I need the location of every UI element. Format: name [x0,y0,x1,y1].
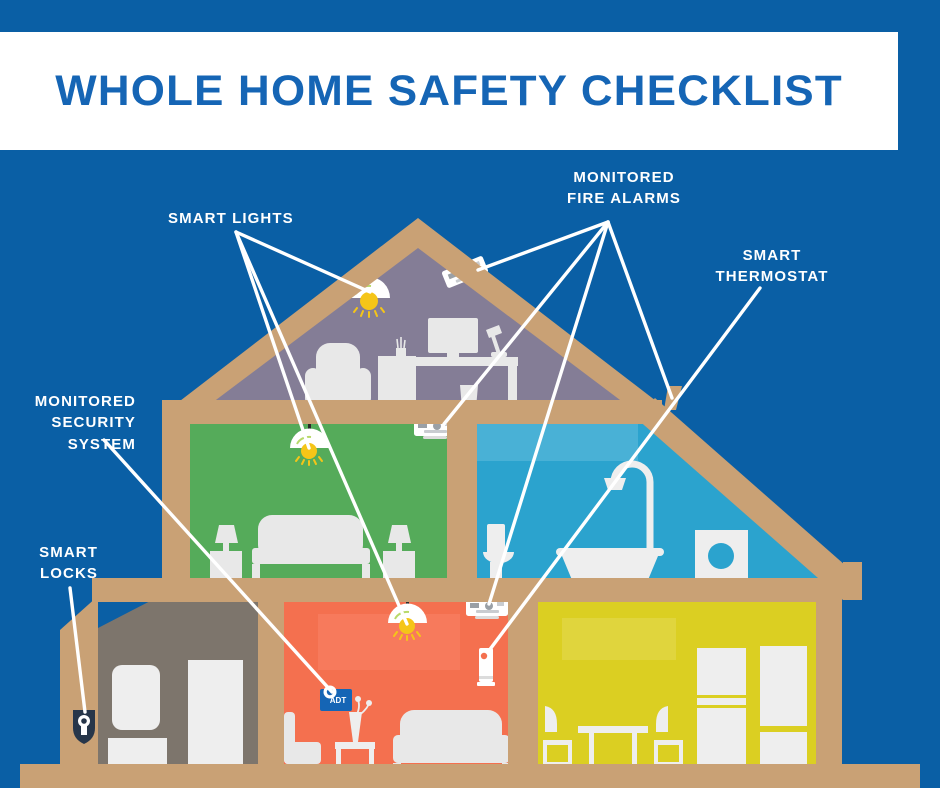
roof-right-eave [843,562,862,600]
wall-right-lower [816,578,842,782]
floor-attic [162,400,662,424]
kitchen-refrigerator [760,646,807,781]
page-title: Whole Home Safety Checklist [55,67,843,116]
room-bedroom [178,419,456,581]
callout-monitored-security-system: MONITORED SECURITY SYSTEM [0,391,136,455]
infographic-canvas: ADT [0,0,940,788]
wall-mid-upper [447,420,477,582]
smart-thermostat-device [477,648,495,686]
wall-garage-divider [258,578,284,782]
callout-smart-lights: SMART LIGHTS [168,208,294,229]
attic-pen-cup [396,337,406,360]
wall-living-divider [508,578,538,782]
room-living: ADT [268,598,516,781]
security-panel-adt: ADT [320,686,352,712]
callout-smart-locks: SMART LOCKS [0,542,98,585]
wall-left-lower [60,596,98,782]
leader-light-attic [236,232,370,292]
title-banner: Whole Home Safety Checklist [0,32,898,150]
callout-smart-thermostat: SMART THERMOSTAT [700,245,844,288]
kitchen-oven-cabinet [697,648,746,781]
callout-monitored-fire-alarms: MONITORED FIRE ALARMS [554,167,694,210]
room-kitchen [537,602,823,781]
bathroom-washer [695,530,748,580]
foundation [20,764,920,788]
bathroom-accent-panel [476,423,638,461]
kitchen-accent-panel [562,618,676,660]
security-panel-label: ADT [330,696,347,705]
room-attic [200,232,636,420]
wall-left-upper [162,404,190,596]
attic-wall [200,232,636,420]
